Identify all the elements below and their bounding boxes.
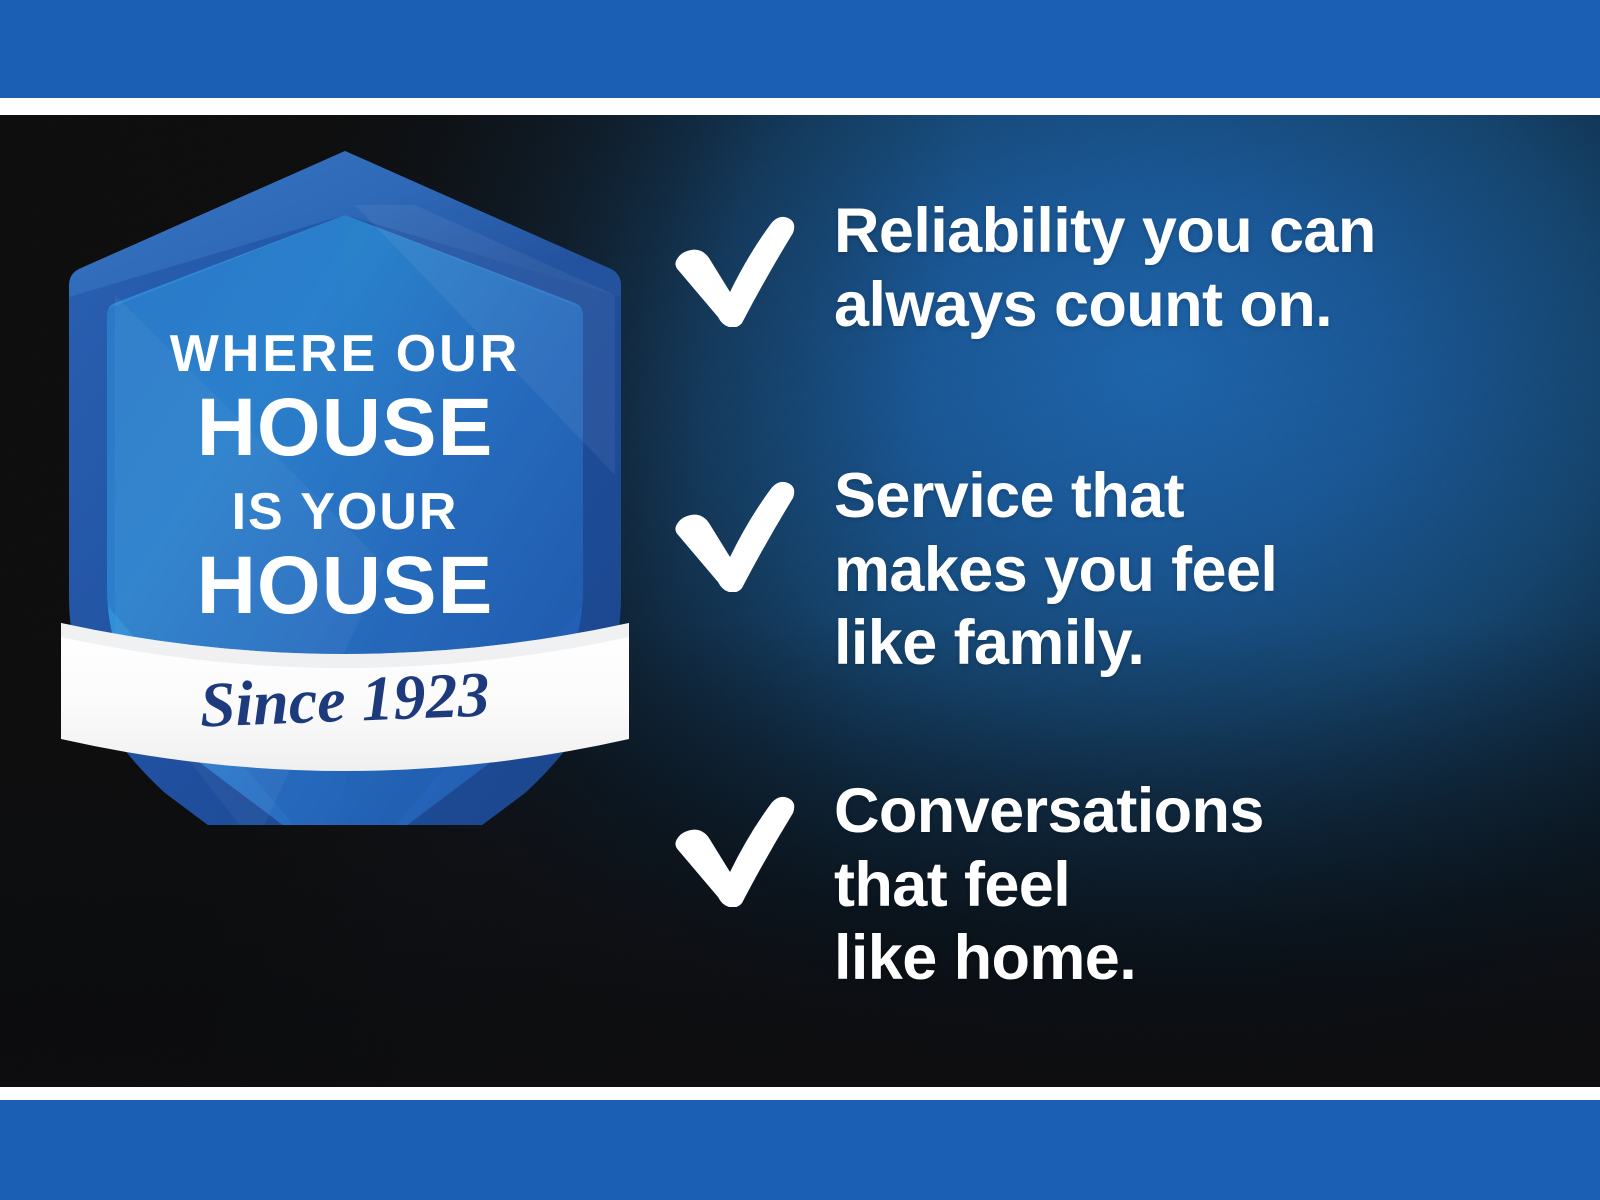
list-item: Service that makes you feel like family. xyxy=(670,460,1277,681)
top-brand-bar xyxy=(0,0,1600,98)
logo-ribbon-text: Since 1923 xyxy=(198,658,490,740)
checkmark-icon xyxy=(670,789,798,907)
promo-graphic: WHERE OUR HOUSE IS YOUR HOUSE Since 1923… xyxy=(0,0,1600,1200)
list-item: Reliability you can always count on. xyxy=(670,195,1376,342)
logo-line-1: WHERE OUR xyxy=(170,325,521,383)
list-item-text: Conversations that feel like home. xyxy=(834,775,1264,996)
logo-line-4: HOUSE xyxy=(197,540,494,631)
top-white-divider xyxy=(0,98,1600,115)
logo-line-2: HOUSE xyxy=(197,382,494,473)
logo-line-3: IS YOUR xyxy=(232,483,459,541)
list-item-text: Reliability you can always count on. xyxy=(834,195,1376,342)
bottom-brand-bar xyxy=(0,1100,1600,1200)
logo-badge: WHERE OUR HOUSE IS YOUR HOUSE Since 1923 xyxy=(55,145,635,825)
bottom-white-divider xyxy=(0,1087,1600,1100)
list-item-text: Service that makes you feel like family. xyxy=(834,460,1277,681)
list-item: Conversations that feel like home. xyxy=(670,775,1264,996)
checkmark-icon xyxy=(670,209,798,327)
checkmark-icon xyxy=(670,474,798,592)
